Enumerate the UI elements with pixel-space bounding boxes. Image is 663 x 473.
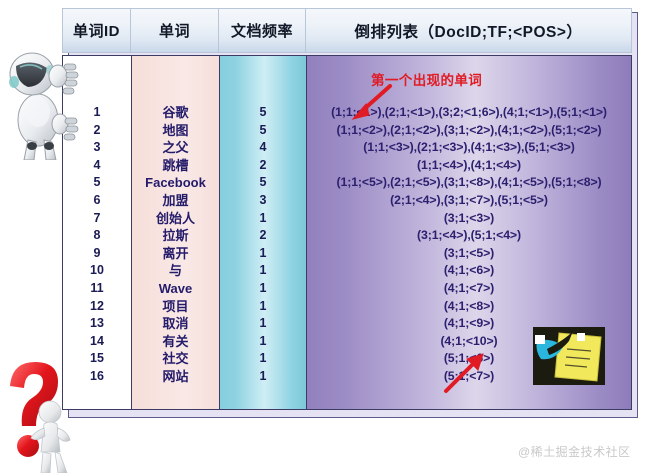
annotation-arrow-up-left-icon xyxy=(350,84,394,120)
cell-term: 创始人 xyxy=(132,210,219,228)
cell-term: 地图 xyxy=(132,122,219,140)
table-header-row: 单词ID 单词 文档频率 倒排列表（DocID;TF;<POS>） xyxy=(62,8,632,53)
robot-mascot-icon xyxy=(2,42,80,160)
cell-term: 取消 xyxy=(132,315,219,333)
cell-term-id: 13 xyxy=(63,315,131,333)
cell-doc-freq: 1 xyxy=(220,315,306,333)
cell-doc-freq: 1 xyxy=(220,280,306,298)
cell-term-id: 12 xyxy=(63,298,131,316)
watermark: @稀土掘金技术社区 xyxy=(518,443,631,460)
cell-posting: (3;1;<3>) xyxy=(307,210,631,228)
cell-term-id: 10 xyxy=(63,262,131,280)
cell-term: 之父 xyxy=(132,139,219,157)
cell-doc-freq: 2 xyxy=(220,227,306,245)
cell-term: 有关 xyxy=(132,333,219,351)
cell-term: 跳槽 xyxy=(132,157,219,175)
cell-posting: (1;1;<2>),(2;1;<2>),(3;1;<2>),(4;1;<2>),… xyxy=(307,122,631,140)
cell-doc-freq: 1 xyxy=(220,350,306,368)
cell-posting: (4;1;<7>) xyxy=(307,280,631,298)
column-header-doc-freq: 文档频率 xyxy=(218,8,305,53)
cell-term-id: 14 xyxy=(63,333,131,351)
cell-doc-freq: 5 xyxy=(220,174,306,192)
cell-doc-freq: 4 xyxy=(220,139,306,157)
cell-doc-freq: 1 xyxy=(220,262,306,280)
cell-term-id: 5 xyxy=(63,174,131,192)
cell-posting: (1;1;<5>),(2;1;<5>),(3;1;<8>),(4;1;<5>),… xyxy=(307,174,631,192)
cell-posting: (1;1;<3>),(2;1;<3>),(4;1;<3>),(5;1;<3>) xyxy=(307,139,631,157)
cell-term: 谷歌 xyxy=(132,104,219,122)
column-doc-freq: 5 5 4 2 5 3 1 2 1 1 1 1 1 1 1 1 xyxy=(219,56,306,409)
column-header-term: 单词 xyxy=(130,8,218,53)
annotation-arrow-up-right-icon xyxy=(440,352,486,394)
column-term: 谷歌 地图 之父 跳槽 Facebook 加盟 创始人 拉斯 离开 与 Wave… xyxy=(131,56,219,409)
cell-posting: (3;1;<4>),(5;1;<4>) xyxy=(307,227,631,245)
cell-doc-freq: 5 xyxy=(220,104,306,122)
cell-term-id: 11 xyxy=(63,280,131,298)
column-header-postings: 倒排列表（DocID;TF;<POS>） xyxy=(305,8,632,53)
cell-doc-freq: 2 xyxy=(220,157,306,175)
cell-term: 项目 xyxy=(132,298,219,316)
cell-term: 加盟 xyxy=(132,192,219,210)
doc-freq-stack: 5 5 4 2 5 3 1 2 1 1 1 1 1 1 1 1 xyxy=(220,104,306,386)
cell-term: 社交 xyxy=(132,350,219,368)
cell-doc-freq: 1 xyxy=(220,333,306,351)
cell-doc-freq: 3 xyxy=(220,192,306,210)
cell-term: 网站 xyxy=(132,368,219,386)
cell-term: 离开 xyxy=(132,245,219,263)
cell-term: 与 xyxy=(132,262,219,280)
term-stack: 谷歌 地图 之父 跳槽 Facebook 加盟 创始人 拉斯 离开 与 Wave… xyxy=(132,104,219,386)
cell-term-id: 9 xyxy=(63,245,131,263)
question-mark-figure-icon xyxy=(0,356,88,473)
slide-canvas: 单词ID 单词 文档频率 倒排列表（DocID;TF;<POS>） 1 2 3 … xyxy=(0,0,663,473)
cell-posting: (2;1;<4>),(3;1;<7>),(5;1;<5>) xyxy=(307,192,631,210)
cell-doc-freq: 1 xyxy=(220,210,306,228)
cell-posting: (1;1;<4>),(4;1;<4>) xyxy=(307,157,631,175)
cell-posting: (4;1;<6>) xyxy=(307,262,631,280)
cell-term: Wave xyxy=(132,280,219,298)
cell-doc-freq: 1 xyxy=(220,368,306,386)
cell-doc-freq: 1 xyxy=(220,298,306,316)
cell-doc-freq: 1 xyxy=(220,245,306,263)
cell-posting: (4;1;<8>) xyxy=(307,298,631,316)
cell-term-id: 6 xyxy=(63,192,131,210)
cell-term-id: 8 xyxy=(63,227,131,245)
cell-term: 拉斯 xyxy=(132,227,219,245)
cell-term: Facebook xyxy=(132,174,219,192)
sticky-note-icon xyxy=(533,327,605,385)
cell-doc-freq: 5 xyxy=(220,122,306,140)
cell-term-id: 7 xyxy=(63,210,131,228)
cell-posting: (3;1;<5>) xyxy=(307,245,631,263)
